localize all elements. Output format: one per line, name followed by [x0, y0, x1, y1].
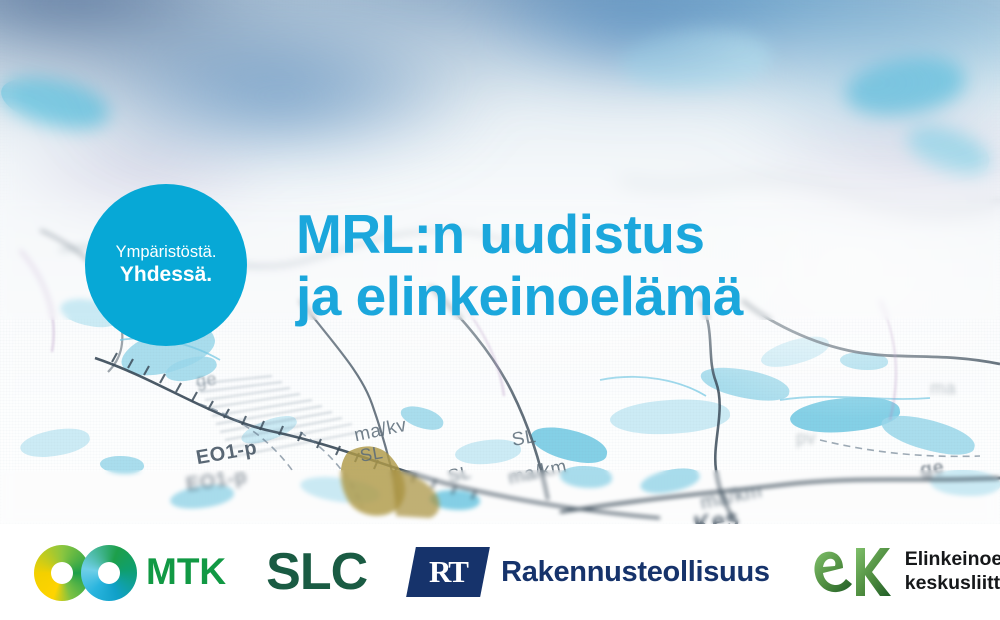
- logo-ek[interactable]: Elinkeinoelämän keskusliitto: [812, 544, 1000, 600]
- slc-wordmark: SLC: [266, 542, 367, 602]
- rt-monogram-text: RT: [429, 554, 467, 590]
- map-top-color-band: [0, 0, 1000, 200]
- page-title: MRL:n uudistus ja elinkeinoelämä: [296, 204, 743, 327]
- rt-monogram-icon: RT: [406, 547, 490, 597]
- ek-wordmark: Elinkeinoelämän keskusliitto: [905, 548, 1000, 596]
- rt-wordmark: Rakennusteollisuus: [501, 556, 770, 589]
- logo-slc[interactable]: SLC: [266, 542, 367, 602]
- logo-mtk[interactable]: MTK: [34, 542, 226, 602]
- mtk-rings-icon: [34, 542, 140, 602]
- banner: ge EO1-p EO1-p ma/kv SL SL SL ma/km ma/k…: [0, 0, 1000, 620]
- title-line-1: MRL:n uudistus: [296, 204, 743, 266]
- slogan-line-1: Ympäristöstä.: [116, 242, 217, 263]
- slogan-badge: Ympäristöstä. Yhdessä.: [85, 184, 247, 346]
- slogan-line-2: Yhdessä.: [120, 262, 212, 288]
- mtk-wordmark: MTK: [146, 551, 226, 593]
- logo-rakennusteollisuus[interactable]: RT Rakennusteollisuus: [411, 547, 770, 597]
- partner-logo-bar: MTK SLC RT Rakennusteollisuus: [0, 524, 1000, 620]
- title-line-2: ja elinkeinoelämä: [296, 266, 743, 328]
- ek-wordmark-line-2: keskusliitto: [905, 572, 1000, 596]
- ek-wordmark-line-1: Elinkeinoelämän: [905, 548, 1000, 572]
- ek-monogram-icon: [812, 544, 892, 600]
